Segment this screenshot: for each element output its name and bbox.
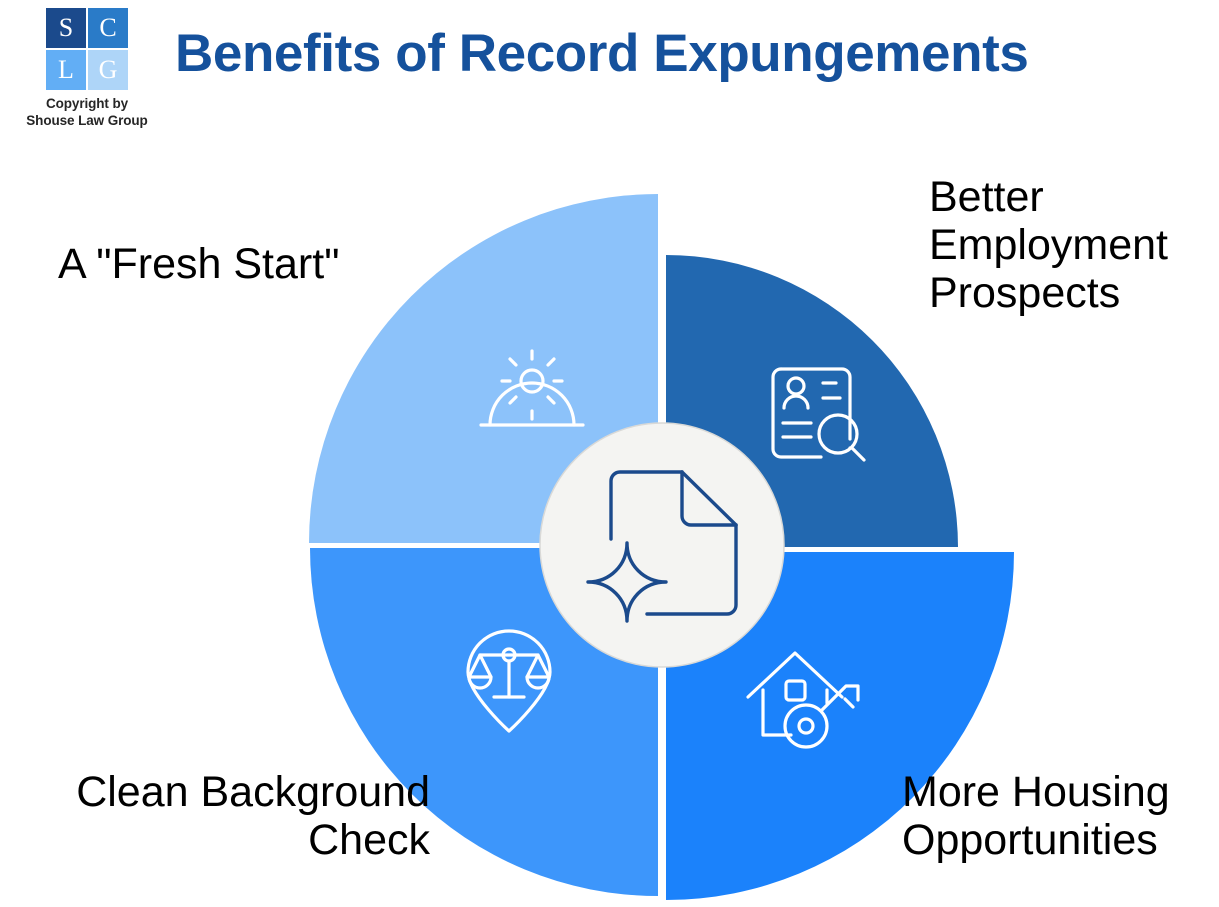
center-hub-circle: [540, 423, 784, 667]
wedge-label-employment: Better Employment Prospects: [929, 173, 1219, 317]
wedge-label-fresh-start: A "Fresh Start": [58, 240, 478, 288]
wedge-label-housing: More Housing Opportunities: [902, 768, 1219, 864]
wedge-label-background-check: Clean Background Check: [0, 768, 430, 864]
center-hub[interactable]: [540, 423, 784, 667]
